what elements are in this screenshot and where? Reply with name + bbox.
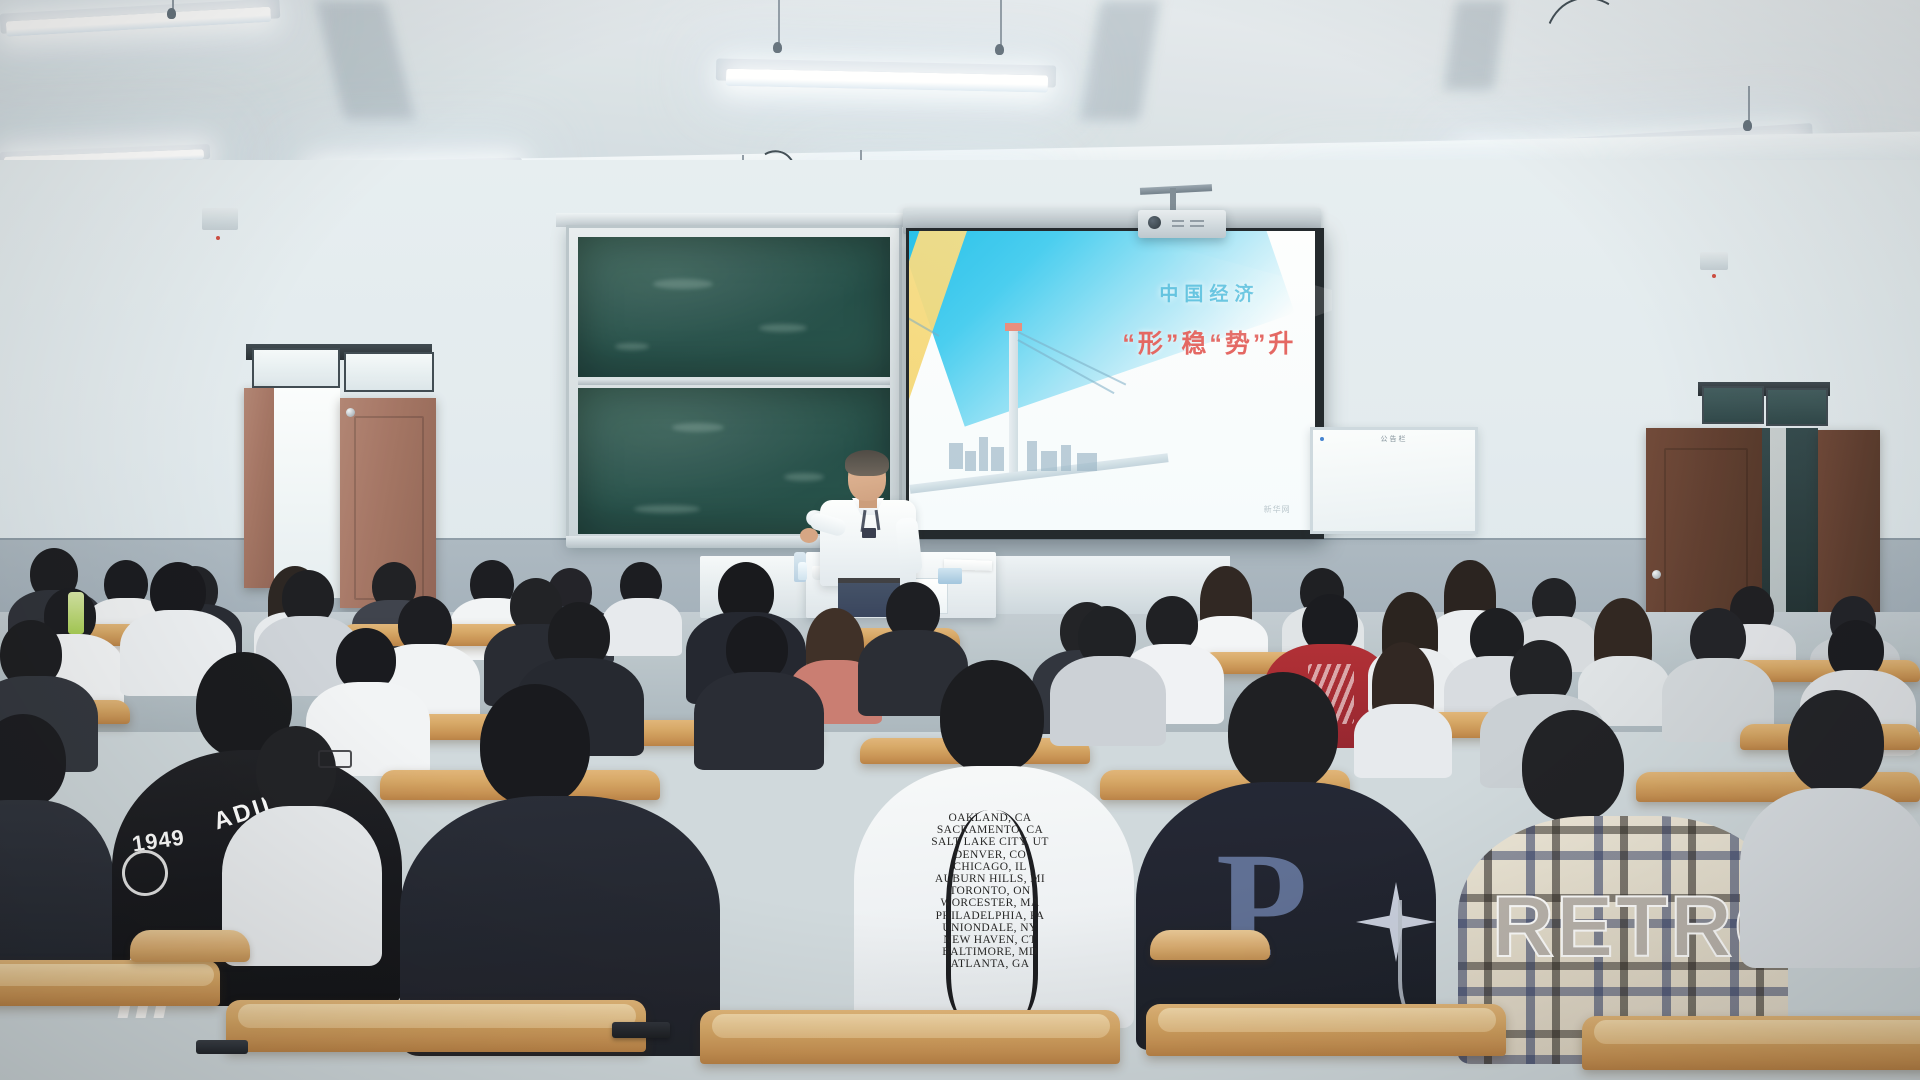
- slide-watermark: 新华网: [1264, 504, 1291, 515]
- seat-back: [1150, 930, 1270, 960]
- student-head: [256, 726, 336, 814]
- right-transom-window: [1766, 388, 1828, 426]
- left-doorway-opening: [274, 388, 340, 598]
- left-door-outer[interactable]: [244, 388, 274, 588]
- smartphone: [612, 1022, 670, 1038]
- left-transom-window: [252, 348, 340, 388]
- lecturer-hand: [800, 528, 818, 543]
- chalkboard-panel-top: [578, 237, 890, 377]
- glasses-icon: [318, 750, 352, 768]
- drink-bottle: [68, 592, 84, 634]
- right-door-right[interactable]: [1818, 430, 1880, 622]
- student-head: [940, 660, 1044, 774]
- lecturer-badge: [862, 528, 876, 538]
- chalkboard: [566, 225, 902, 546]
- notice-board-header: 公告栏: [1381, 434, 1408, 444]
- smartphone: [196, 1040, 248, 1054]
- notice-board[interactable]: 公告栏: [1310, 427, 1478, 534]
- projector-mount: [1170, 188, 1176, 210]
- student-head: [480, 684, 590, 806]
- student-head: [1788, 690, 1884, 794]
- left-transom-window: [344, 352, 434, 392]
- bridge-tower-icon: [1009, 327, 1018, 477]
- student-head: [1228, 672, 1338, 792]
- city-tee-text: OAKLAND, CA SACRAMENTO, CA SALT LAKE CIT…: [862, 812, 1118, 970]
- seat-back: [130, 930, 250, 962]
- student-head: [1522, 710, 1624, 822]
- right-transom-window: [1702, 386, 1764, 424]
- wall-speaker: [202, 208, 238, 230]
- projection-screen[interactable]: 中国经济 “形”稳“势”升 新华网: [909, 231, 1315, 530]
- wall-sensor: [1700, 252, 1728, 270]
- notice-board-magnet: [1320, 437, 1324, 441]
- tissue-box: [938, 568, 962, 584]
- slide-subtitle: “形”稳“势”升: [1104, 324, 1315, 360]
- lecturer-hair: [845, 450, 889, 476]
- slide-title: 中国经济: [1112, 279, 1307, 306]
- projector-lens: [1148, 216, 1161, 229]
- lecture-hall-photo: 中国经济 “形”稳“势”升 新华网 公告栏 工学院: [0, 0, 1920, 1080]
- student-torso: [1740, 788, 1920, 968]
